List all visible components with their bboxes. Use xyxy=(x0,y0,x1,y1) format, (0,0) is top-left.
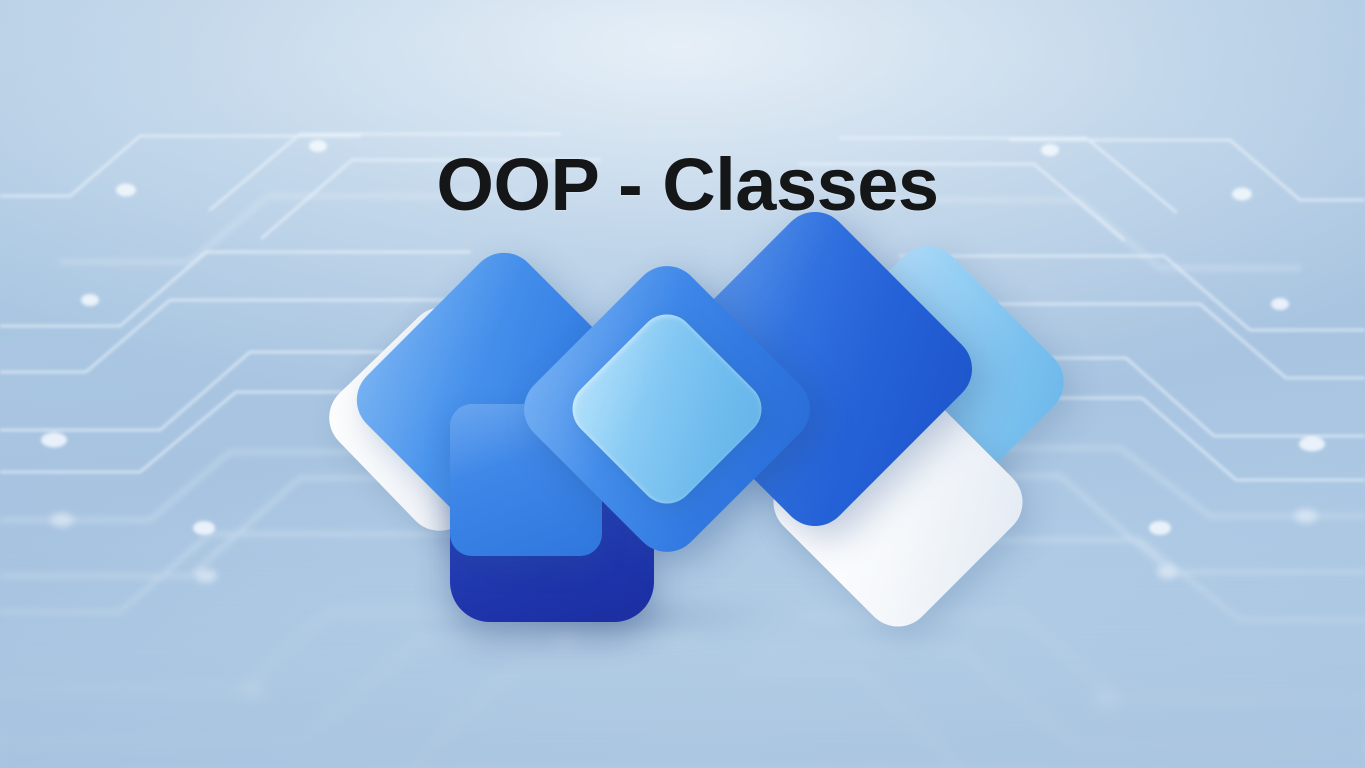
hero-graphic xyxy=(0,0,1365,768)
slide-canvas: OOP - Classes xyxy=(0,0,1365,768)
